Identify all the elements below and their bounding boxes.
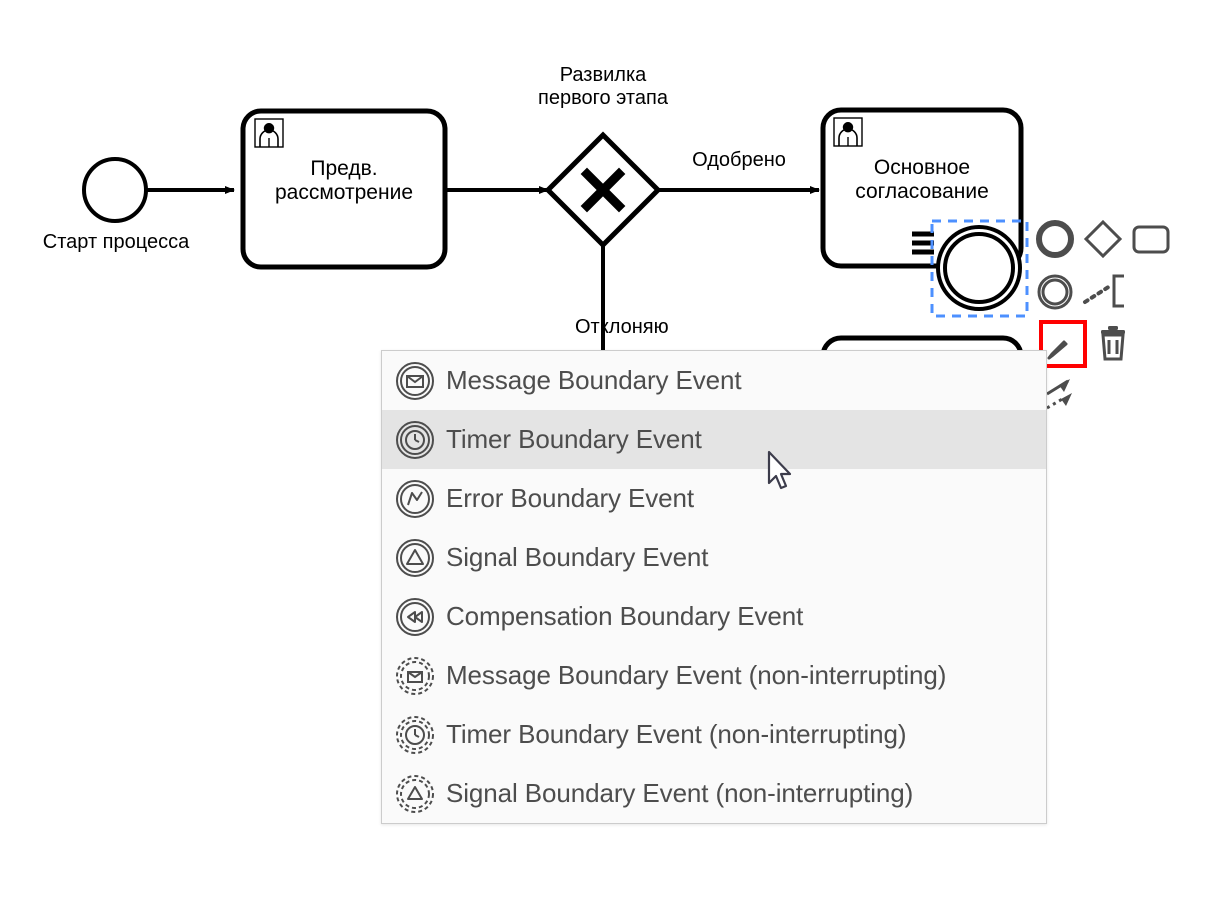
menu-item-label: Timer Boundary Event [446,424,702,455]
pad-connect[interactable] [1042,374,1088,420]
task-icon [1128,216,1174,262]
pad-append-intermediate-event[interactable] [1032,269,1078,315]
signal-boundary-event-non-interrupting-icon [394,773,436,815]
text-annotation-icon [1080,269,1136,315]
menu-item-label: Timer Boundary Event (non-interrupting) [446,719,906,750]
exclusive-gateway[interactable] [548,135,658,245]
menu-item-label: Error Boundary Event [446,483,694,514]
pad-append-task[interactable] [1128,216,1174,262]
bpmn-editor-canvas[interactable]: Старт процесса Предв. рассмотрение Разви… [0,0,1226,902]
trash-icon [1090,321,1136,367]
menu-item-message-boundary-event[interactable]: Message Boundary Event [382,351,1046,410]
start-event[interactable] [84,159,146,221]
menu-item-timer-boundary-event[interactable]: Timer Boundary Event [382,410,1046,469]
bpmn-replace-menu[interactable]: Message Boundary Event Timer Boundary Ev… [381,350,1047,824]
connection-arrows-icon [1042,374,1088,420]
menu-item-signal-boundary-event-non-interrupting[interactable]: Signal Boundary Event (non-interrupting) [382,764,1046,823]
end-event-icon [1032,216,1078,262]
menu-item-timer-boundary-event-non-interrupting[interactable]: Timer Boundary Event (non-interrupting) [382,705,1046,764]
gateway-icon [1080,216,1126,262]
pad-append-gateway[interactable] [1080,216,1126,262]
message-boundary-event-icon [394,360,436,402]
menu-item-signal-boundary-event[interactable]: Signal Boundary Event [382,528,1046,587]
pad-append-end-event[interactable] [1032,216,1078,262]
timer-boundary-event-non-interrupting-icon [394,714,436,756]
menu-item-label: Compensation Boundary Event [446,601,803,632]
menu-item-label: Signal Boundary Event (non-interrupting) [446,778,913,809]
pad-append-text-annotation[interactable] [1080,269,1136,315]
timer-boundary-event-icon [394,419,436,461]
error-boundary-event-icon [394,478,436,520]
message-boundary-event-non-interrupting-icon [394,655,436,697]
menu-item-label: Message Boundary Event (non-interrupting… [446,660,946,691]
pad-delete[interactable] [1090,321,1136,367]
wrench-icon [1042,323,1084,365]
pad-replace-change-type[interactable] [1042,323,1084,365]
menu-item-label: Message Boundary Event [446,365,742,396]
signal-boundary-event-icon [394,537,436,579]
menu-item-message-boundary-event-non-interrupting[interactable]: Message Boundary Event (non-interrupting… [382,646,1046,705]
boundary-event[interactable] [938,227,1020,309]
menu-item-compensation-boundary-event[interactable]: Compensation Boundary Event [382,587,1046,646]
menu-item-label: Signal Boundary Event [446,542,708,573]
context-pad[interactable] [1032,216,1218,426]
menu-item-error-boundary-event[interactable]: Error Boundary Event [382,469,1046,528]
user-task-1[interactable] [243,111,445,267]
compensation-boundary-event-icon [394,596,436,638]
intermediate-event-icon [1032,269,1078,315]
